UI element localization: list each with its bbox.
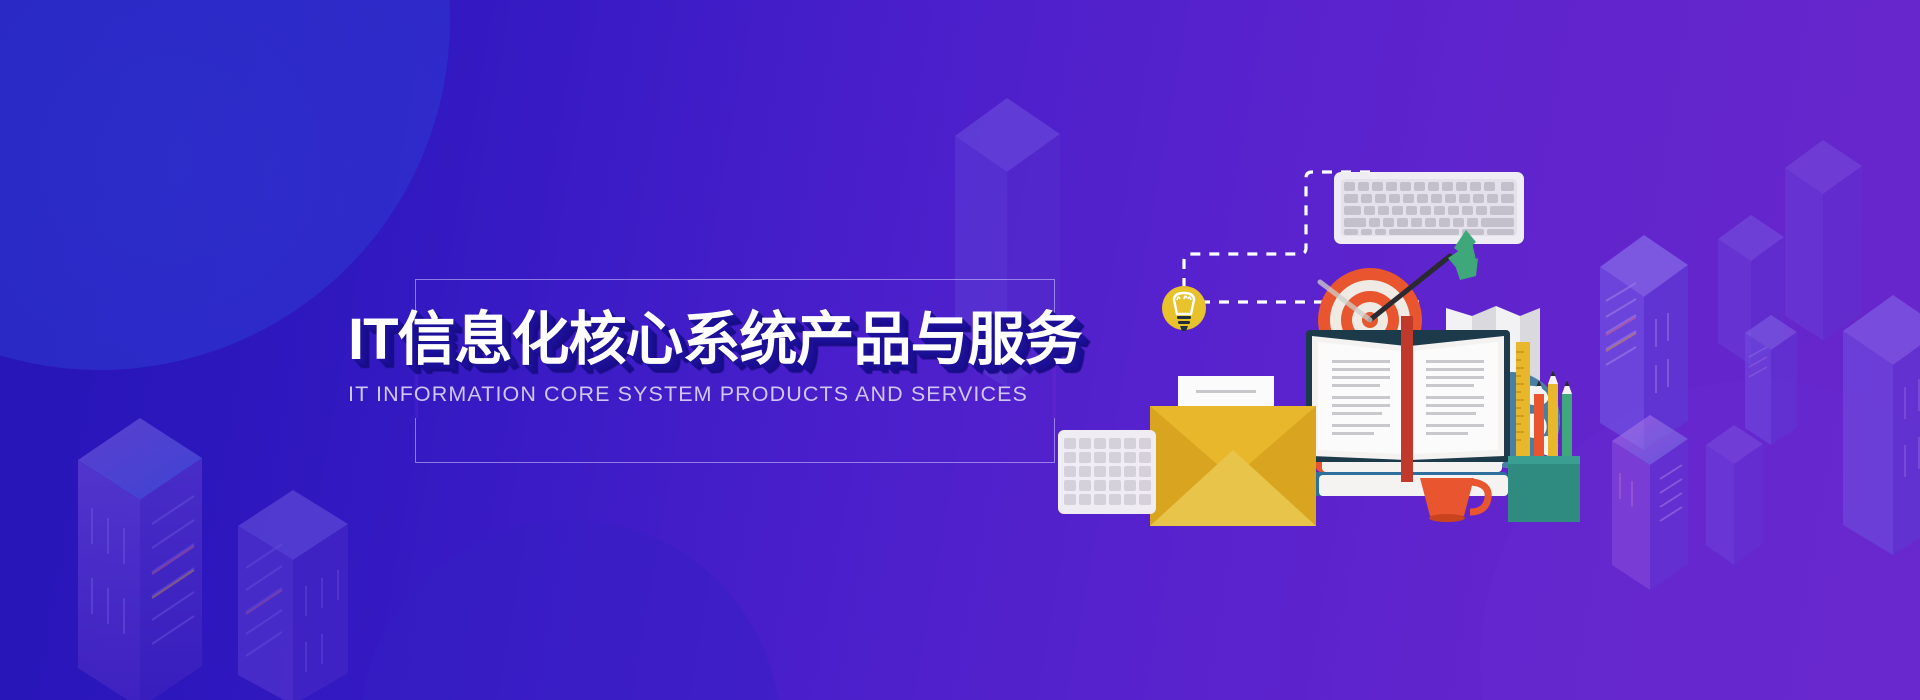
circle-bottom-center-decoration (360, 520, 780, 700)
hero-banner: IT信息化核心系统产品与服务 IT INFORMATION CORE SYSTE… (0, 0, 1920, 700)
lightbulb-icon (1162, 286, 1206, 331)
pencil-icon (1534, 380, 1544, 460)
page-title: IT信息化核心系统产品与服务 (348, 310, 1138, 370)
isometric-building-icon (1612, 415, 1707, 590)
pencil-icon (1548, 370, 1558, 460)
ruler-icon (1516, 342, 1530, 460)
coffee-cup-icon (1420, 478, 1488, 522)
page-subtitle: IT INFORMATION CORE SYSTEM PRODUCTS AND … (348, 382, 1138, 407)
keyboard-small-icon (1058, 430, 1156, 514)
isometric-building-icon (238, 490, 388, 700)
keyboard-large-icon (1334, 172, 1524, 244)
pencil-icon (1562, 380, 1572, 460)
open-book-icon (1306, 316, 1510, 482)
pencil-holder-icon (1508, 342, 1580, 522)
isometric-building-icon (1706, 425, 1776, 565)
isometric-building-icon (78, 418, 248, 700)
headline-block: IT信息化核心系统产品与服务 IT INFORMATION CORE SYSTE… (348, 310, 1138, 407)
envelope-icon (1150, 406, 1316, 526)
hero-illustration (1120, 130, 1580, 600)
isometric-building-icon (1843, 295, 1920, 555)
